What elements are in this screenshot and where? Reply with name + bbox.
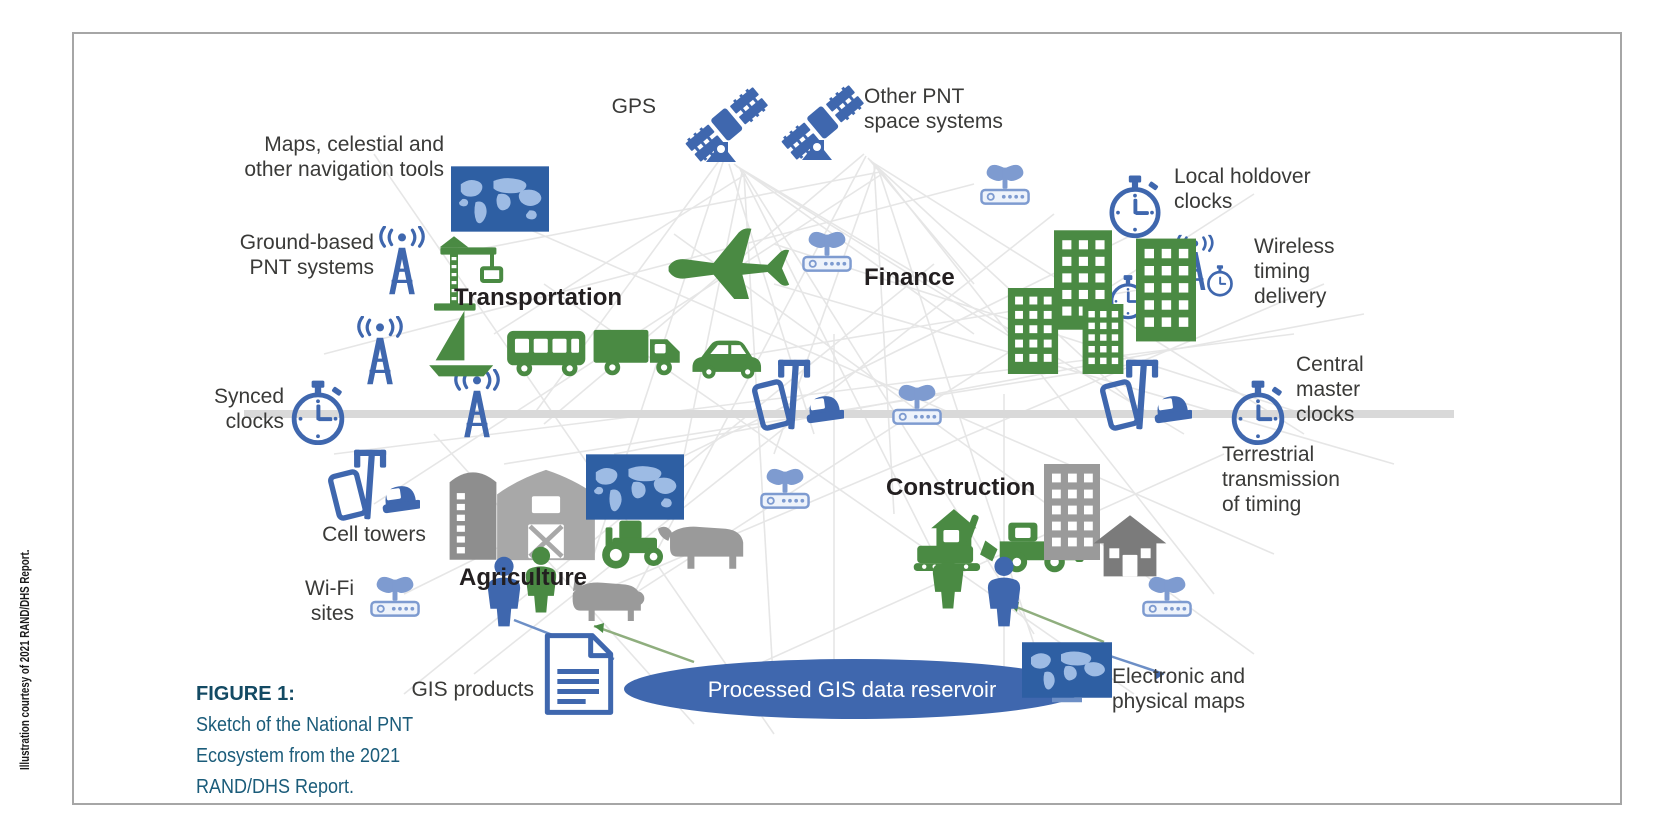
wifi-router-icon <box>803 232 850 271</box>
wifi-router-icon <box>1143 577 1190 616</box>
cow-icon <box>658 527 743 569</box>
house-icon <box>1094 515 1167 576</box>
radio-tower-icon <box>381 227 423 294</box>
sailboat-icon <box>429 311 493 377</box>
world-map-icon <box>451 166 549 231</box>
label-gps: GPS <box>526 94 656 119</box>
figure-caption-text: Sketch of the National PNT Ecosystem fro… <box>196 710 466 803</box>
label-other-pnt-space-systems: Other PNT space systems <box>864 84 1084 134</box>
tractor-icon <box>602 521 663 569</box>
wifi-router-icon <box>371 577 418 616</box>
label-terrestrial-transmission: Terrestrial transmission of timing <box>1222 442 1402 517</box>
label-ground-based-pnt: Ground-based PNT systems <box>174 230 374 280</box>
radio-tower-icon <box>359 317 401 384</box>
label-cell-towers: Cell towers <box>284 522 464 547</box>
world-map-icon <box>586 454 684 519</box>
barn-icon <box>497 470 595 560</box>
reservoir-label: Processed GIS data reservoir <box>682 677 1022 703</box>
document-icon <box>547 636 610 713</box>
wifi-router-icon <box>761 469 808 508</box>
figure-frame: GPS Other PNT space systems Maps, celest… <box>72 32 1622 805</box>
figure-caption: FIGURE 1: Sketch of the National PNT Eco… <box>196 679 496 803</box>
label-local-holdover-clocks: Local holdover clocks <box>1174 164 1394 214</box>
office-building-icon <box>1044 464 1100 560</box>
stopwatch-icon <box>1112 176 1159 236</box>
label-wifi-sites: Wi-Fi sites <box>214 576 354 626</box>
label-synced-clocks: Synced clocks <box>134 384 284 434</box>
label-electronic-physical-maps: Electronic and physical maps <box>1112 664 1312 714</box>
truck-icon <box>594 330 680 375</box>
illustration-credit: Illustration courtesy of 2021 RAND/DHS R… <box>18 470 32 770</box>
satellite-icon <box>780 83 865 161</box>
sector-label-transportation: Transportation <box>454 284 622 312</box>
sector-label-agriculture: Agriculture <box>459 564 587 592</box>
sector-label-finance: Finance <box>864 264 955 292</box>
label-central-master-clocks: Central master clocks <box>1296 352 1436 427</box>
car-icon <box>692 341 761 379</box>
office-building-icon <box>1136 239 1196 342</box>
wifi-router-icon <box>893 385 940 424</box>
label-maps-celestial: Maps, celestial and other navigation too… <box>184 132 444 182</box>
bus-icon <box>507 331 585 376</box>
sector-label-construction: Construction <box>886 474 1035 502</box>
label-wireless-timing-delivery: Wireless timing delivery <box>1254 234 1404 309</box>
satellite-icon <box>684 85 769 163</box>
tv-map-icon <box>1022 642 1112 702</box>
office-building-icon <box>1083 304 1124 374</box>
cell-tower-phone-icon <box>330 450 423 520</box>
wifi-router-icon <box>981 165 1028 204</box>
figure-caption-bold: FIGURE 1: <box>196 683 295 705</box>
office-building-icon <box>1008 288 1058 374</box>
